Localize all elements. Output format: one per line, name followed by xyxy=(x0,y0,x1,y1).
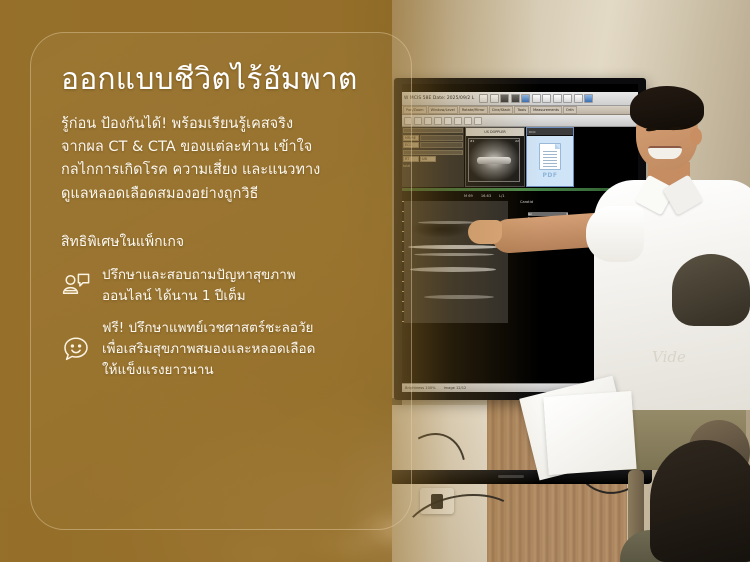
benefit-line: ให้แข็งแรงยาวนาน xyxy=(102,360,315,381)
subcopy-line: กลไกการเกิดโรค ความเสี่ยง และแนวทาง xyxy=(61,159,391,182)
subcopy: รู้ก่อน ป้องกันได้! พร้อมเรียนรู้เคสจริง… xyxy=(61,113,391,207)
subcopy-line: ดูแลหลอดเลือดสมองอย่างถูกวิธี xyxy=(61,183,391,206)
benefit-item-online-consult: ปรึกษาและสอบถามปัญหาสุขภาพ ออนไลน์ ได้นา… xyxy=(61,265,391,306)
subcopy-line: รู้ก่อน ป้องกันได้! พร้อมเรียนรู้เคสจริง xyxy=(61,113,391,136)
benefit-line: ฟรี! ปรึกษาแพทย์เวชศาสตร์ชะลอวัย xyxy=(102,318,315,339)
person-speech-bubble-icon xyxy=(61,271,91,301)
card-inner: ออกแบบชีวิตไร้อัมพาต รู้ก่อน ป้องกันได้!… xyxy=(61,61,391,380)
smiley-speech-bubble-icon xyxy=(61,334,91,364)
page-title: ออกแบบชีวิตไร้อัมพาต xyxy=(61,61,391,99)
subcopy-line: จากผล CT & CTA ของแต่ละท่าน เข้าใจ xyxy=(61,136,391,159)
benefit-text: ปรึกษาและสอบถามปัญหาสุขภาพ ออนไลน์ ได้นา… xyxy=(102,265,296,306)
benefit-line: ออนไลน์ ได้นาน 1 ปีเต็ม xyxy=(102,286,296,307)
benefit-line: เพื่อเสริมสุขภาพสมองและหลอดเลือด xyxy=(102,339,315,360)
benefit-line: ปรึกษาและสอบถามปัญหาสุขภาพ xyxy=(102,265,296,286)
benefit-item-antiaging-consult: ฟรี! ปรึกษาแพทย์เวชศาสตร์ชะลอวัย เพื่อเส… xyxy=(61,318,391,380)
benefits-title: สิทธิพิเศษในแพ็กเกจ xyxy=(61,232,391,253)
content-card: ออกแบบชีวิตไร้อัมพาต รู้ก่อน ป้องกันได้!… xyxy=(30,32,412,530)
benefit-text: ฟรี! ปรึกษาแพทย์เวชศาสตร์ชะลอวัย เพื่อเส… xyxy=(102,318,315,380)
